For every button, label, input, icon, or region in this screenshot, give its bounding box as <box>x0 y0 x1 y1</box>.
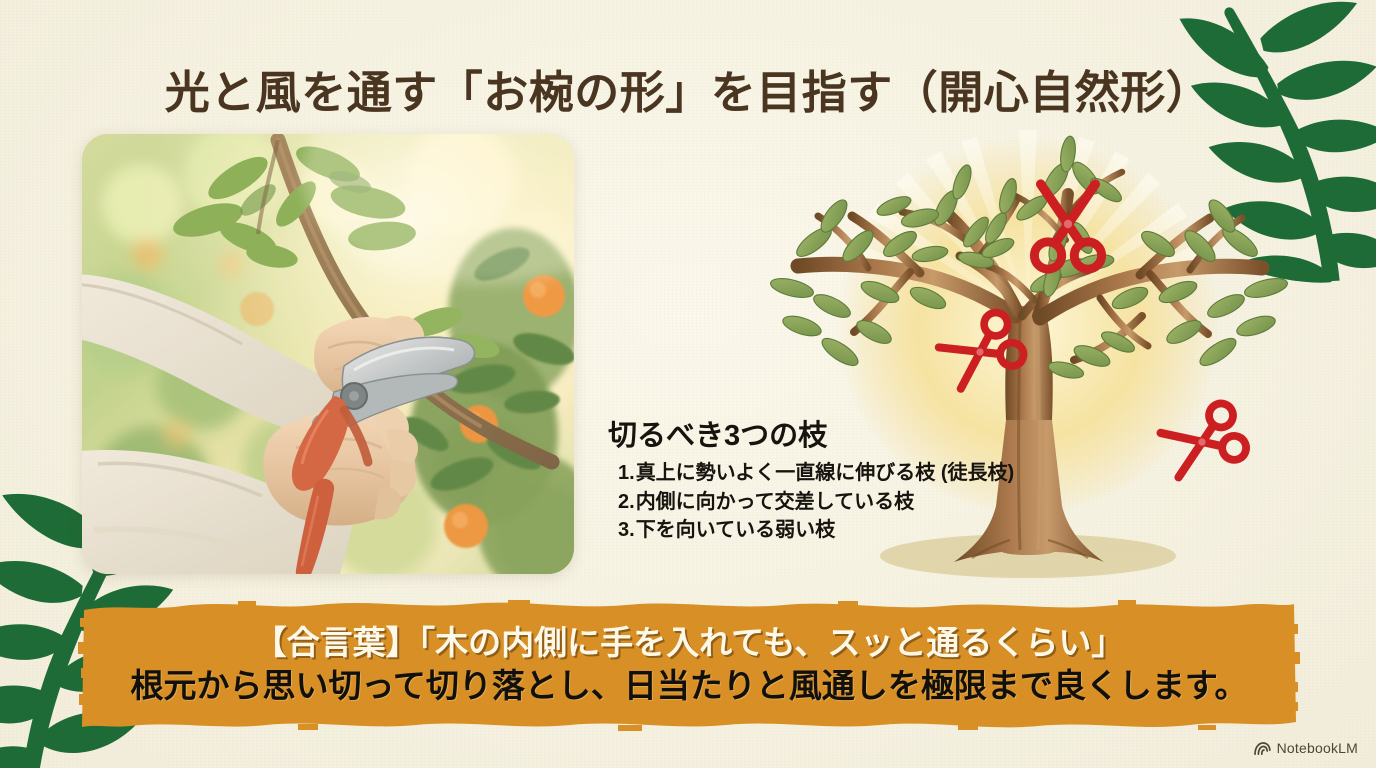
pruning-photo <box>82 134 574 574</box>
keyword-banner: 【合言葉】「木の内側に手を入れても、スッと通るくらい」 根元から思い切って切り落… <box>78 598 1300 731</box>
list-item-text: 真上に勢いよく一直線に伸びる枝 (徒長枝) <box>636 462 1014 484</box>
banner-line-2: 根元から思い切って切り落とし、日当たりと風通しを極限まで良くします。 <box>130 666 1247 706</box>
list-item-number: 2. <box>618 491 635 513</box>
cut-branches-list: 1.真上に勢いよく一直線に伸びる枝 (徒長枝) 2.内側に向かって交差している枝… <box>608 459 1028 544</box>
slide-canvas: 光と風を通す「お椀の形」を目指す（開心自然形） <box>0 0 1376 768</box>
slide-title: 光と風を通す「お椀の形」を目指す（開心自然形） <box>0 68 1376 118</box>
notebooklm-icon <box>1254 741 1271 756</box>
cut-branches-block: 切るべき3つの枝 1.真上に勢いよく一直線に伸びる枝 (徒長枝) 2.内側に向か… <box>608 420 1028 545</box>
list-item-text: 下を向いている弱い枝 <box>636 519 835 541</box>
banner-line-1: 【合言葉】「木の内側に手を入れても、スッと通るくらい」 <box>254 623 1125 663</box>
notebooklm-label: NotebookLM <box>1277 740 1358 756</box>
cut-branches-heading: 切るべき3つの枝 <box>608 420 1028 453</box>
list-item-number: 3. <box>618 519 635 541</box>
list-item: 3.下を向いている弱い枝 <box>618 516 1028 544</box>
banner-text-group: 【合言葉】「木の内側に手を入れても、スッと通るくらい」 根元から思い切って切り落… <box>78 598 1300 731</box>
list-item-text: 内側に向かって交差している枝 <box>636 491 914 513</box>
list-item-number: 1. <box>618 462 635 484</box>
notebooklm-watermark: NotebookLM <box>1254 740 1358 756</box>
list-item: 2.内側に向かって交差している枝 <box>618 488 1028 516</box>
list-item: 1.真上に勢いよく一直線に伸びる枝 (徒長枝) <box>618 459 1028 487</box>
